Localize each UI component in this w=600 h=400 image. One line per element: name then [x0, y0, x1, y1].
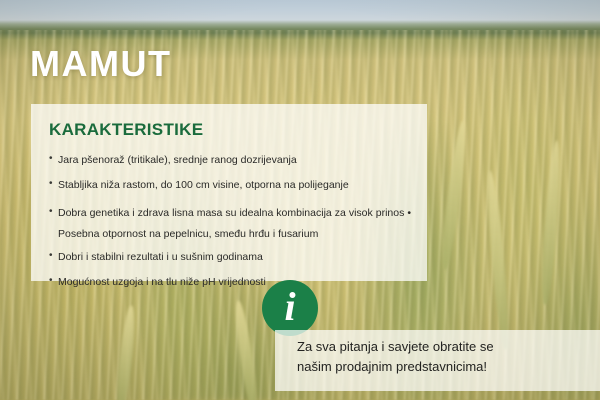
list-item: Dobra genetika i zdrava lisna masa su id…: [49, 203, 411, 244]
list-item: Stabljika niža rastom, do 100 cm visine,…: [49, 178, 411, 192]
poster-root: MAMUT KARAKTERISTIKE Jara pšenoraž (trit…: [0, 0, 600, 400]
list-item: Jara pšenoraž (tritikale), srednje ranog…: [49, 153, 411, 167]
callout-line-2: našim prodajnim predstavnicima!: [297, 357, 586, 377]
info-icon: i: [262, 280, 318, 336]
contact-callout-panel: Za sva pitanja i savjete obratite se naš…: [275, 330, 600, 391]
characteristics-panel: KARAKTERISTIKE Jara pšenoraž (tritikale)…: [31, 104, 427, 281]
characteristics-heading: KARAKTERISTIKE: [49, 120, 411, 140]
callout-line-1: Za sva pitanja i savjete obratite se: [297, 337, 586, 357]
characteristics-list: Jara pšenoraž (tritikale), srednje ranog…: [49, 153, 411, 290]
list-item: Mogućnost uzgoja i na tlu niže pH vrijed…: [49, 275, 411, 289]
product-title: MAMUT: [30, 46, 171, 82]
info-glyph: i: [284, 287, 295, 327]
list-item: Dobri i stabilni rezultati i u sušnim go…: [49, 250, 411, 264]
